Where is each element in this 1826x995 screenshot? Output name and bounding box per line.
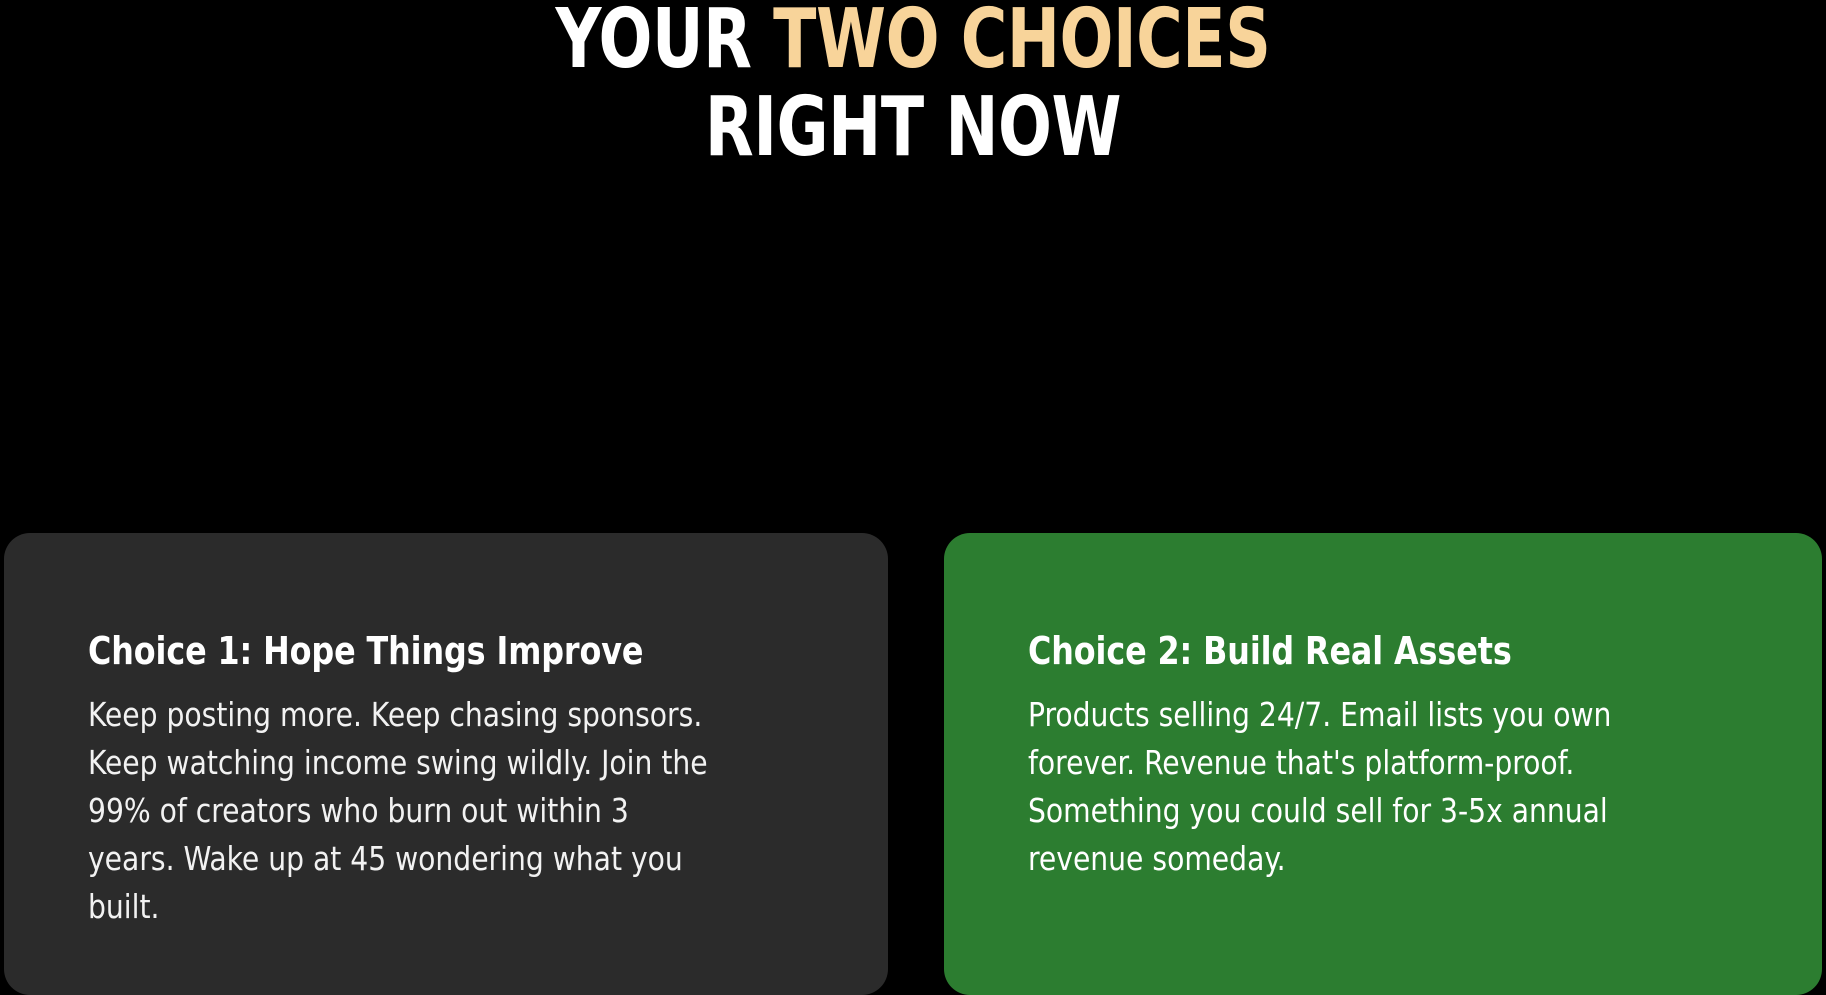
title-line-1: YOUR TWO CHOICES bbox=[128, 0, 1698, 84]
choice-card-1: Choice 1: Hope Things Improve Keep posti… bbox=[4, 533, 888, 995]
slide-title: YOUR TWO CHOICES RIGHT NOW bbox=[0, 0, 1826, 172]
choice-card-2-body: Products selling 24/7. Email lists you o… bbox=[1028, 691, 1617, 883]
title-line-1-plain: YOUR bbox=[556, 0, 774, 87]
choice-cards-row: Choice 1: Hope Things Improve Keep posti… bbox=[0, 533, 1826, 995]
choice-card-2: Choice 2: Build Real Assets Products sel… bbox=[944, 533, 1822, 995]
choice-card-1-heading: Choice 1: Hope Things Improve bbox=[88, 629, 754, 673]
title-line-2: RIGHT NOW bbox=[128, 84, 1698, 172]
slide-root: YOUR TWO CHOICES RIGHT NOW Choice 1: Hop… bbox=[0, 0, 1826, 995]
title-line-1-accent: TWO CHOICES bbox=[773, 0, 1270, 87]
choice-card-2-heading: Choice 2: Build Real Assets bbox=[1028, 629, 1688, 673]
choice-card-1-body: Keep posting more. Keep chasing sponsors… bbox=[88, 691, 715, 931]
